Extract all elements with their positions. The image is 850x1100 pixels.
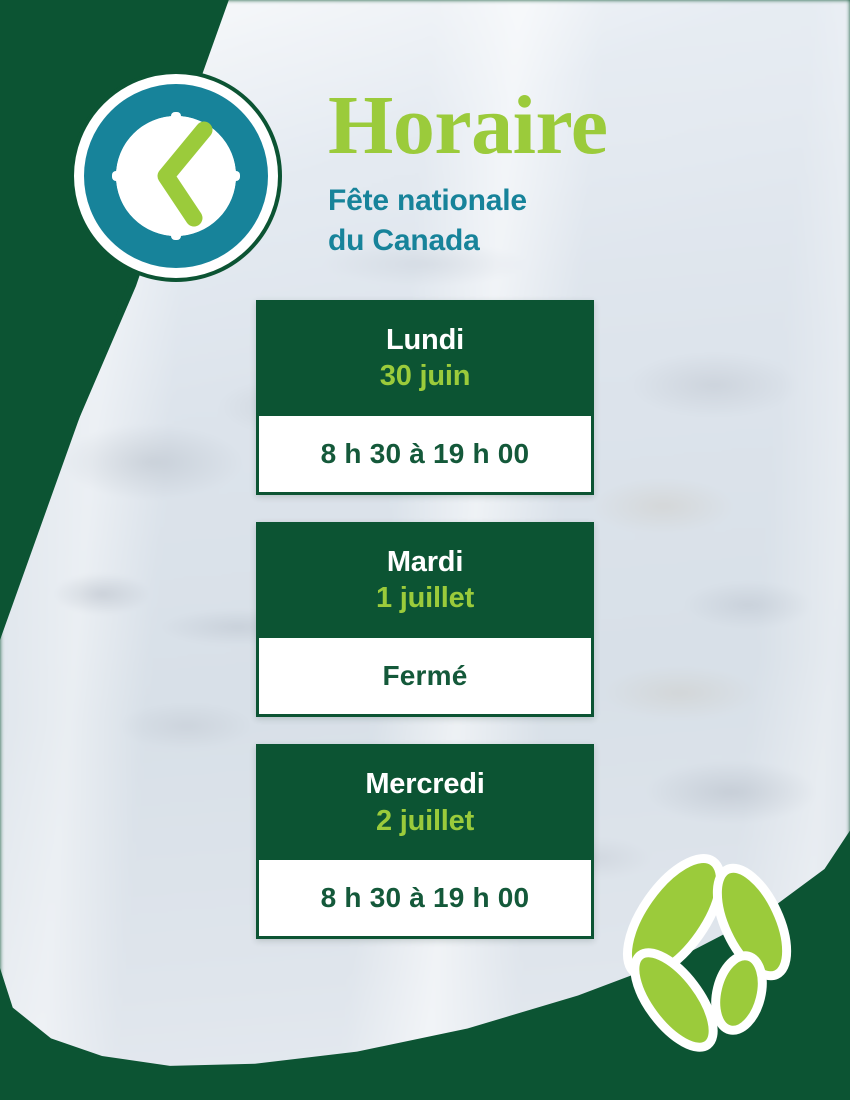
schedule-card-day: Lundi — [266, 324, 584, 357]
schedule-card-date: 2 juillet — [266, 804, 584, 839]
schedule-card-hours: 8 h 30 à 19 h 00 — [267, 438, 583, 470]
schedule-card: Lundi 30 juin 8 h 30 à 19 h 00 — [256, 300, 594, 495]
schedule-card-header: Mercredi 2 juillet — [256, 744, 594, 860]
schedule-card-list: Lundi 30 juin 8 h 30 à 19 h 00 Mardi 1 j… — [256, 300, 594, 966]
title-block: Horaire Fête nationale du Canada — [328, 86, 808, 260]
schedule-card-body: Fermé — [256, 638, 594, 717]
schedule-card-date: 1 juillet — [266, 581, 584, 616]
butterfly-logo-icon — [612, 845, 822, 1060]
schedule-card-body: 8 h 30 à 19 h 00 — [256, 416, 594, 495]
schedule-card-day: Mercredi — [266, 768, 584, 801]
schedule-card-hours: 8 h 30 à 19 h 00 — [267, 882, 583, 914]
poster-subtitle-line-1: Fête nationale — [328, 181, 808, 221]
poster-subtitle-line-2: du Canada — [328, 221, 808, 261]
clock-icon — [68, 68, 284, 284]
schedule-card-header: Lundi 30 juin — [256, 300, 594, 416]
schedule-card-day: Mardi — [266, 546, 584, 579]
schedule-card-body: 8 h 30 à 19 h 00 — [256, 860, 594, 939]
schedule-card: Mardi 1 juillet Fermé — [256, 522, 594, 717]
schedule-card-hours: Fermé — [267, 660, 583, 692]
schedule-poster: Horaire Fête nationale du Canada Lundi 3… — [0, 0, 850, 1100]
poster-subtitle: Fête nationale du Canada — [328, 181, 808, 261]
schedule-card: Mercredi 2 juillet 8 h 30 à 19 h 00 — [256, 744, 594, 939]
poster-header: Horaire Fête nationale du Canada — [0, 0, 850, 290]
schedule-card-header: Mardi 1 juillet — [256, 522, 594, 638]
page-title: Horaire — [328, 86, 808, 167]
schedule-card-date: 30 juin — [266, 359, 584, 394]
